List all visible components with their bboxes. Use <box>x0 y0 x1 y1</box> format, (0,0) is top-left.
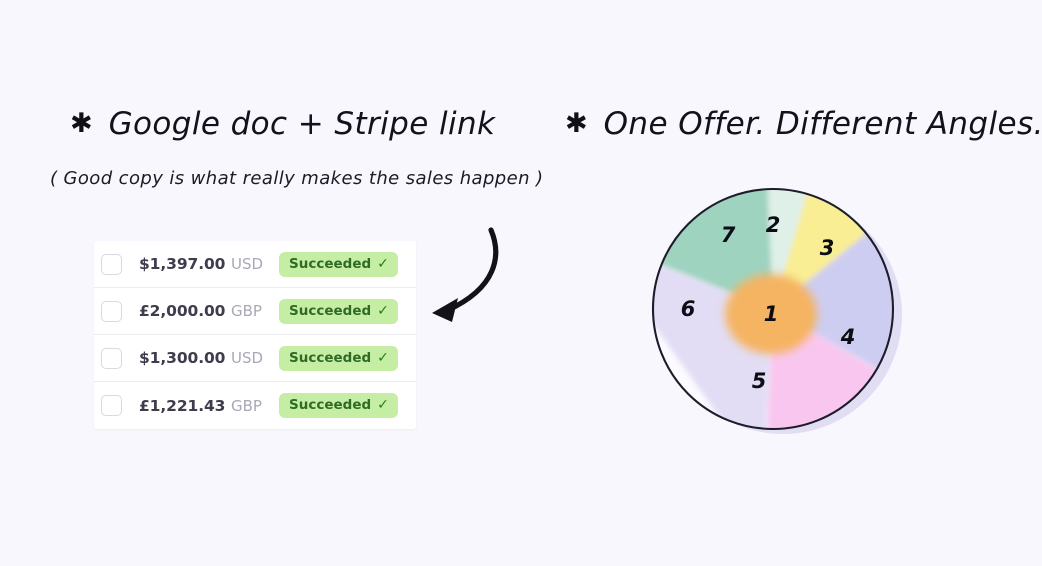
left-heading: ✱ Google doc + Stripe link <box>70 106 495 142</box>
amount-cell: $1,397.00 <box>139 255 231 273</box>
currency-cell: GBP <box>231 397 279 415</box>
table-row[interactable]: $1,300.00 USD Succeeded ✓ <box>94 335 416 382</box>
check-icon: ✓ <box>377 257 389 271</box>
currency-cell: USD <box>231 349 279 367</box>
status-badge: Succeeded ✓ <box>279 299 398 324</box>
asterisk-icon: ✱ <box>70 110 93 137</box>
row-checkbox[interactable] <box>101 395 122 416</box>
slide-canvas: ✱ Google doc + Stripe link ( Good copy i… <box>0 0 1042 566</box>
table-row[interactable]: £1,221.43 GBP Succeeded ✓ <box>94 382 416 429</box>
wheel-label-2: 2 <box>766 213 781 237</box>
wheel-label-3: 3 <box>820 236 835 260</box>
status-badge: Succeeded ✓ <box>279 346 398 371</box>
status-label: Succeeded <box>289 350 371 366</box>
angles-wheel: 1 2 3 4 5 6 7 <box>645 178 915 443</box>
status-label: Succeeded <box>289 303 371 319</box>
right-heading: ✱ One Offer. Different Angles. <box>565 106 1042 142</box>
check-icon: ✓ <box>377 304 389 318</box>
amount-cell: £2,000.00 <box>139 302 231 320</box>
check-icon: ✓ <box>377 351 389 365</box>
wheel-label-7: 7 <box>721 223 736 247</box>
row-checkbox[interactable] <box>101 348 122 369</box>
status-label: Succeeded <box>289 256 371 272</box>
table-row[interactable]: £2,000.00 GBP Succeeded ✓ <box>94 288 416 335</box>
curved-arrow-icon <box>418 218 518 328</box>
wheel-label-5: 5 <box>752 369 767 393</box>
wheel-label-4: 4 <box>841 325 856 349</box>
currency-cell: USD <box>231 255 279 273</box>
right-heading-text: One Offer. Different Angles. <box>604 106 1042 142</box>
amount-cell: $1,300.00 <box>139 349 231 367</box>
left-subheading: ( Good copy is what really makes the sal… <box>50 168 543 189</box>
status-label: Succeeded <box>289 397 371 413</box>
currency-cell: GBP <box>231 302 279 320</box>
row-checkbox[interactable] <box>101 301 122 322</box>
wheel-label-6: 6 <box>681 297 696 321</box>
status-badge: Succeeded ✓ <box>279 252 398 277</box>
payments-list: $1,397.00 USD Succeeded ✓ £2,000.00 GBP … <box>94 241 416 429</box>
wheel-label-1: 1 <box>764 302 779 326</box>
left-heading-text: Google doc + Stripe link <box>109 106 496 142</box>
table-row[interactable]: $1,397.00 USD Succeeded ✓ <box>94 241 416 288</box>
check-icon: ✓ <box>377 398 389 412</box>
row-checkbox[interactable] <box>101 254 122 275</box>
asterisk-icon: ✱ <box>565 110 588 137</box>
amount-cell: £1,221.43 <box>139 397 231 415</box>
status-badge: Succeeded ✓ <box>279 393 398 418</box>
